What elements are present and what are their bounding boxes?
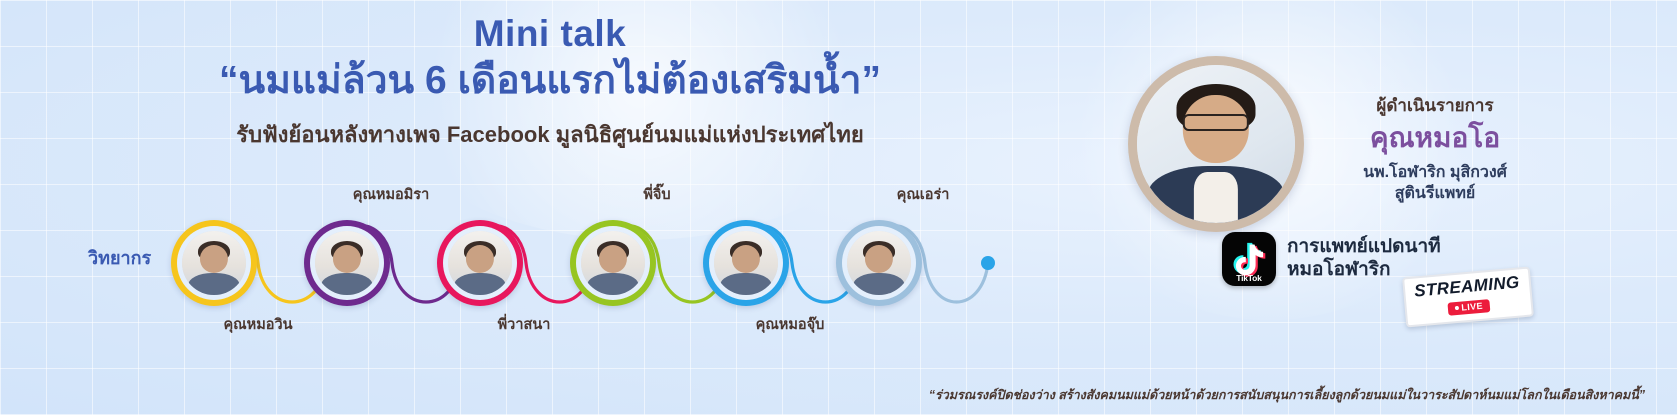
speaker-avatar-2[interactable] xyxy=(304,220,390,306)
headline-subtitle: รับฟังย้อนหลังทางเพจ Facebook มูลนิธิศูน… xyxy=(0,117,1100,152)
host-text: ผู้ดำเนินรายการ คุณหมอโอ นพ.โอฬาริก มุสิ… xyxy=(1320,92,1550,205)
host-role-label: ผู้ดำเนินรายการ xyxy=(1320,92,1550,119)
live-badge: LIVE xyxy=(1447,299,1491,316)
avatar-photo xyxy=(448,231,512,295)
speaker-avatar-1[interactable] xyxy=(171,220,257,306)
speakers-row: คุณหมอวินคุณหมอมิราพี่วาสนาพี่จิ๊บคุณหมอ… xyxy=(0,175,1060,350)
streaming-badge: STREAMING LIVE xyxy=(1402,267,1533,328)
speaker-avatar-6[interactable] xyxy=(836,220,922,306)
headline-quote: “นมแม่ล้วน 6 เดือนแรกไม่ต้องเสริมน้ำ” xyxy=(0,57,1100,106)
tiktok-wordmark: TikTok xyxy=(1222,273,1276,283)
glasses-icon xyxy=(1183,114,1249,131)
page-title: Mini talk xyxy=(0,14,1100,55)
tiktok-channel-name: การแพทย์แปดนาที หมอโอฬาริก xyxy=(1287,236,1441,282)
avatar-photo xyxy=(182,231,246,295)
live-label: LIVE xyxy=(1461,301,1483,313)
promo-banner: Mini talk “นมแม่ล้วน 6 เดือนแรกไม่ต้องเส… xyxy=(0,0,1677,415)
tiktok-channel-line1: การแพทย์แปดนาที xyxy=(1287,236,1441,259)
live-dot-icon xyxy=(1454,306,1458,310)
headline-block: Mini talk “นมแม่ล้วน 6 เดือนแรกไม่ต้องเส… xyxy=(0,14,1100,152)
host-avatar xyxy=(1128,56,1304,232)
speaker-name-3: พี่วาสนา xyxy=(434,313,614,336)
streaming-label: STREAMING xyxy=(1413,272,1520,301)
speaker-name-5: คุณหมอจุ๊บ xyxy=(700,313,880,336)
avatar-photo xyxy=(714,231,778,295)
avatar-photo xyxy=(581,231,645,295)
speaker-name-6: คุณเอร่า xyxy=(833,183,1013,206)
speaker-name-1: คุณหมอวิน xyxy=(168,313,348,336)
tiktok-icon[interactable]: TikTok xyxy=(1222,232,1276,286)
speaker-name-4: พี่จิ๊บ xyxy=(567,183,747,206)
speaker-avatar-3[interactable] xyxy=(437,220,523,306)
avatar-photo xyxy=(847,231,911,295)
host-nickname: คุณหมอโอ xyxy=(1320,123,1550,154)
speaker-avatar-4[interactable] xyxy=(570,220,656,306)
speaker-name-2: คุณหมอมิรา xyxy=(301,183,481,206)
host-specialty: สูตินรีแพทย์ xyxy=(1320,183,1550,205)
footer-caption: “ร่วมรณรงค์ปิดช่องว่าง สร้างสังคมนมแม่ด้… xyxy=(0,385,1677,405)
avatar-photo xyxy=(315,231,379,295)
speaker-avatar-5[interactable] xyxy=(703,220,789,306)
host-fullname: นพ.โอฬาริก มุสิกวงศ์ xyxy=(1320,162,1550,184)
